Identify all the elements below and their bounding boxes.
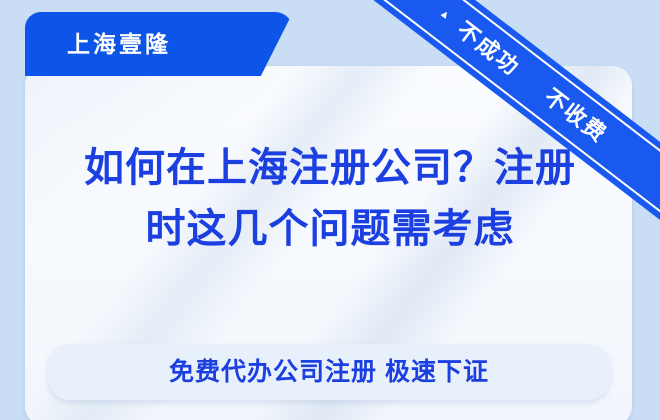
banner-canvas: 上海壹隆 如何在上海注册公司？注册 时这几个问题需考虑 免费代办公司注册 极速下…: [0, 0, 660, 420]
cta-pill[interactable]: 免费代办公司注册 极速下证: [48, 344, 610, 400]
page-title-line-1: 如何在上海注册公司？注册: [18, 138, 642, 199]
triangle-up-icon: ▲: [437, 7, 452, 22]
cta-pill-label: 免费代办公司注册 极速下证: [169, 360, 489, 385]
brand-tab[interactable]: 上海壹隆: [25, 12, 293, 76]
page-title-line-2: 时这几个问题需考虑: [18, 199, 642, 260]
page-title: 如何在上海注册公司？注册 时这几个问题需考虑: [0, 138, 660, 260]
brand-tab-label: 上海壹隆: [67, 33, 171, 56]
